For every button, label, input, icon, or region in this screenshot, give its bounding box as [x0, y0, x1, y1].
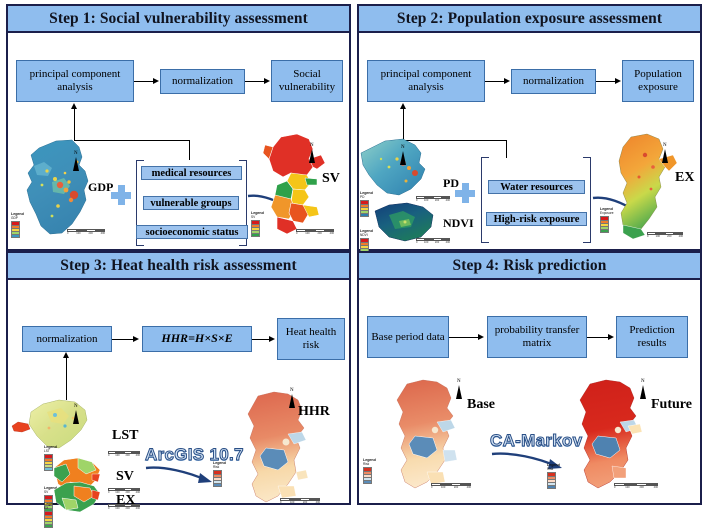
step4-box-prediction-results[interactable]: Prediction results: [616, 316, 688, 358]
legend-sv-ramp: [251, 220, 260, 237]
north-arrow-icon-lst: N: [72, 404, 82, 426]
legend-future-sub: Risk: [547, 467, 560, 471]
legend-ex-sub: Exposure: [600, 211, 613, 215]
legend-future: Legend Risk: [547, 463, 560, 489]
step1-arrowhead-2: [264, 78, 270, 84]
step1-connector-1: [134, 81, 154, 82]
panel-step2-header: Step 2: Population exposure assessment: [359, 6, 700, 33]
panel-step2-title: Step 2: Population exposure assessment: [397, 10, 662, 28]
north-arrow-icon-hhr: N: [288, 388, 298, 410]
north-arrow-icon-pd: N: [399, 145, 409, 167]
scalebar-hhr: 0100200400: [280, 498, 320, 504]
legend-ex-ramp: [600, 216, 609, 233]
step3-feed-arrowhead: [63, 352, 69, 358]
scalebar-sv: 0100200400: [296, 229, 334, 235]
step2-box-normalization[interactable]: normalization: [511, 69, 596, 94]
north-label: N: [310, 143, 314, 148]
panel-step4: Step 4: Risk prediction Base period data…: [357, 251, 702, 505]
step1-arrowhead-1: [153, 78, 159, 84]
legend-gdp-sub: GDP: [11, 216, 24, 220]
scalebar-ex: 0100200400: [647, 232, 683, 238]
north-arrow-icon-sv: N: [308, 143, 318, 165]
map-ndvi: [371, 201, 439, 243]
legend-base-ramp: [363, 467, 372, 484]
north-arrow-icon-ex: N: [661, 143, 671, 165]
step3-box-normalization[interactable]: normalization: [22, 326, 112, 352]
step1-feed-arrowhead: [71, 103, 77, 109]
panel-step3-title: Step 3: Heat health risk assessment: [60, 257, 296, 275]
step3-arrowhead-2: [269, 336, 275, 342]
step4-arrowhead-2: [608, 334, 614, 340]
software-label-ca-markov: CA-Markov: [490, 431, 582, 451]
step2-connector-1: [485, 81, 505, 82]
legend-ex-step3-ramp: [44, 511, 53, 528]
step3-box-heat-health-risk[interactable]: Heat health risk: [277, 318, 345, 360]
north-label: N: [401, 145, 405, 150]
operator-plus-step2: [455, 183, 475, 203]
factor-bracket-step2: [481, 157, 591, 243]
step2-arrowhead-2: [615, 78, 621, 84]
north-label: N: [74, 151, 78, 156]
map-base-label: Base: [467, 397, 495, 413]
step2-feed-drop: [506, 140, 507, 158]
legend-hhr-sub: Risk: [213, 465, 226, 469]
legend-sv: Legend SV: [251, 211, 264, 237]
panel-step3-header: Step 3: Heat health risk assessment: [8, 253, 349, 280]
map-lst: [25, 398, 107, 454]
factor-medical-resources[interactable]: medical resources: [141, 166, 242, 180]
map-lst-inset: [10, 420, 32, 434]
step4-connector-1: [449, 337, 479, 338]
map-sv-step3-label: SV: [116, 469, 134, 485]
legend-hhr-ramp: [213, 470, 222, 487]
legend-pd-sub: PD: [360, 195, 373, 199]
step1-box-social-vulnerability[interactable]: Social vulnerability: [271, 60, 343, 102]
scalebar-base: 0100200400: [431, 483, 471, 489]
legend-future-ramp: [547, 472, 556, 489]
legend-base-sub: Risk: [363, 462, 376, 466]
map-hhr-label: HHR: [298, 404, 330, 420]
panel-step1: Step 1: Social vulnerability assessment …: [6, 4, 351, 251]
legend-gdp-ramp: [11, 221, 20, 238]
panel-step4-title: Step 4: Risk prediction: [452, 257, 606, 275]
north-label: N: [457, 379, 461, 384]
operator-plus-step1: [111, 185, 131, 205]
panel-step1-header: Step 1: Social vulnerability assessment: [8, 6, 349, 33]
legend-ex-step3: Legend EX: [44, 502, 57, 528]
arrow-arcgis-process: [144, 464, 216, 488]
scalebar-future: 0100200400: [614, 483, 658, 489]
step4-arrowhead-1: [478, 334, 484, 340]
step1-feed-vertical: [74, 109, 75, 141]
step3-box-hhr-formula[interactable]: HHR=H×S×E: [142, 326, 252, 352]
step2-box-population-exposure[interactable]: Population exposure: [622, 60, 694, 102]
legend-hhr: Legend Risk: [213, 461, 226, 487]
north-arrow-icon-base: N: [455, 379, 465, 401]
factor-socioeconomic-status[interactable]: socioeconomic status: [136, 225, 248, 239]
step3-connector-1: [112, 339, 134, 340]
step3-feed-vertical: [66, 358, 67, 400]
step1-feed-drop: [189, 140, 190, 160]
legend-sv-sub: SV: [251, 215, 264, 219]
north-arrow-icon-gdp: N: [72, 151, 82, 173]
step1-connector-2: [245, 81, 265, 82]
map-ex-step2: [611, 133, 683, 241]
panel-step2-body: principal component analysis normalizati…: [359, 33, 700, 249]
panel-step2: Step 2: Population exposure assessment p…: [357, 4, 702, 251]
north-label: N: [290, 388, 294, 393]
panel-step4-body: Base period data probability transfer ma…: [359, 280, 700, 503]
map-lst-label: LST: [112, 428, 138, 444]
legend-pd-ramp: [360, 200, 369, 217]
step4-connector-2: [587, 337, 609, 338]
scalebar-ndvi: 0100200400: [416, 238, 450, 244]
scalebar-ex-step3: 0100200400: [108, 504, 140, 510]
north-label: N: [641, 379, 645, 384]
scalebar-gdp: 0100200400: [67, 229, 105, 235]
legend-ex: Legend Exposure: [600, 207, 613, 233]
step2-arrowhead-1: [504, 78, 510, 84]
step2-feed-arrowhead: [400, 103, 406, 109]
step4-box-base-period-data[interactable]: Base period data: [367, 316, 449, 358]
panel-step3-body: normalization HHR=H×S×E Heat health risk: [8, 280, 349, 503]
step4-box-probability-transfer-matrix[interactable]: probability transfer matrix: [487, 316, 587, 358]
panel-step4-header: Step 4: Risk prediction: [359, 253, 700, 280]
legend-ndvi-sub: NDVI: [360, 233, 373, 237]
map-ndvi-label: NDVI: [443, 216, 474, 231]
factor-vulnerable-groups[interactable]: vulnerable groups: [143, 196, 239, 210]
map-gdp-label: GDP: [88, 180, 113, 195]
step2-box-pca[interactable]: principal component analysis: [367, 60, 485, 102]
step1-box-normalization[interactable]: normalization: [160, 69, 245, 94]
step3-arrowhead-1: [133, 336, 139, 342]
step3-connector-2: [252, 339, 270, 340]
map-sv-label: SV: [322, 171, 340, 187]
legend-lst-sub: LST: [44, 449, 57, 453]
scalebar-lst: 0100200400: [108, 451, 140, 457]
workflow-figure: Step 1: Social vulnerability assessment …: [0, 0, 708, 509]
north-label: N: [74, 404, 78, 409]
factor-water-resources[interactable]: Water resources: [488, 180, 585, 194]
map-future-label: Future: [651, 397, 692, 413]
software-label-arcgis: ArcGIS 10.7: [145, 445, 244, 465]
factor-high-risk-exposure[interactable]: High-risk exposure: [486, 212, 587, 226]
step2-connector-2: [596, 81, 616, 82]
north-arrow-icon-future: N: [639, 379, 649, 401]
step1-box-pca[interactable]: principal component analysis: [16, 60, 134, 102]
legend-gdp: Legend GDP: [11, 212, 24, 238]
panel-step3: Step 3: Heat health risk assessment norm…: [6, 251, 351, 505]
map-ex-label: EX: [675, 170, 694, 186]
panel-step1-title: Step 1: Social vulnerability assessment: [49, 10, 308, 28]
north-label: N: [663, 143, 667, 148]
legend-ex-step3-sub: EX: [44, 506, 57, 510]
legend-base: Legend Risk: [363, 458, 376, 484]
panel-step1-body: principal component analysis normalizati…: [8, 33, 349, 249]
